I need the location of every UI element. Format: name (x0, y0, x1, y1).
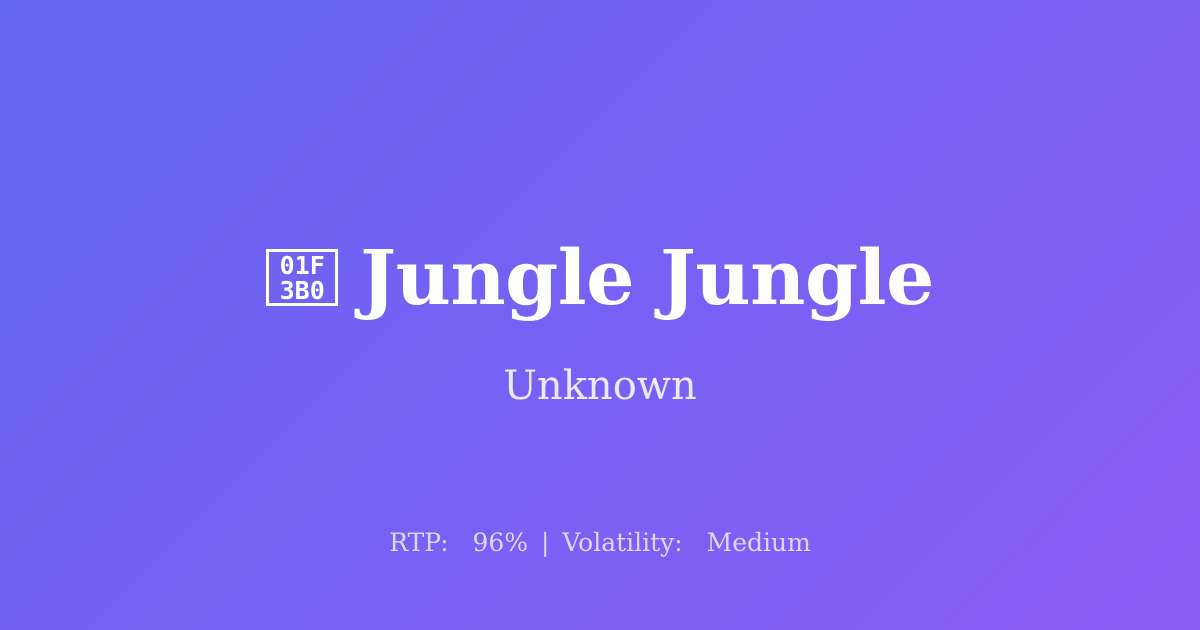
volatility-value: Medium (707, 528, 811, 557)
tofu-codepoint-line-2: 3B0 (280, 278, 325, 303)
game-preview-card: 01F 3B0 Jungle Jungle Unknown RTP: 96% |… (0, 0, 1200, 630)
game-meta-line: RTP: 96% | Volatility: Medium (0, 527, 1200, 559)
page-title: Jungle Jungle (360, 232, 934, 324)
rtp-label: RTP: (389, 528, 448, 557)
title-row: 01F 3B0 Jungle Jungle (0, 232, 1200, 324)
provider-name: Unknown (0, 362, 1200, 410)
rtp-value: 96% (472, 528, 528, 557)
slot-machine-icon: 01F 3B0 (266, 249, 338, 306)
meta-separator: | (536, 528, 554, 557)
tofu-codepoint-line-1: 01F (280, 253, 325, 278)
volatility-label: Volatility: (562, 528, 682, 557)
